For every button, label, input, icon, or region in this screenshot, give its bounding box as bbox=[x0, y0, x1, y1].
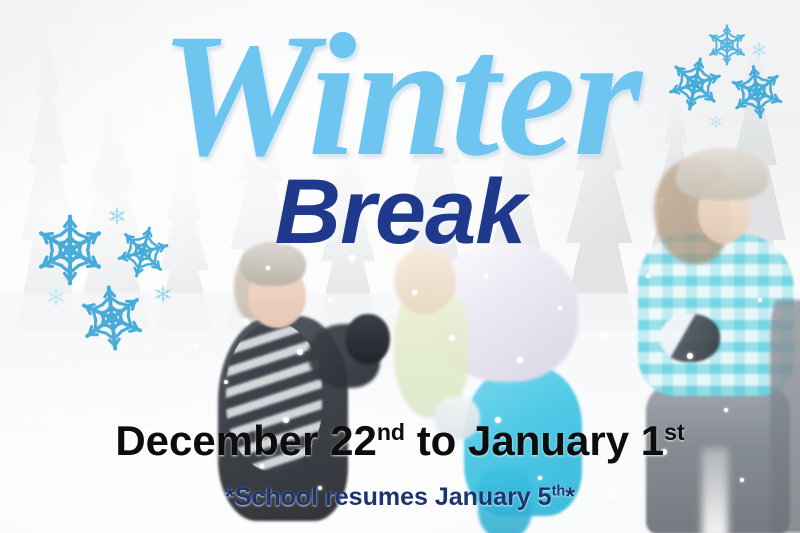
snowflake-left-3-icon bbox=[74, 280, 151, 357]
date-end-day: 1 bbox=[641, 417, 664, 464]
date-range-line: December 22nd to January 1st bbox=[0, 418, 800, 464]
resume-suffix: * bbox=[565, 483, 575, 511]
resume-ordinal: th bbox=[552, 484, 566, 500]
date-end-month: January bbox=[468, 417, 641, 464]
child-left-mitten bbox=[346, 314, 390, 364]
snowflake-left-small-2-icon bbox=[46, 287, 66, 307]
headline-break: Break bbox=[0, 166, 800, 258]
resume-prefix: *School resumes January bbox=[225, 483, 538, 511]
resume-day: 5 bbox=[538, 483, 552, 511]
snowflake-left-small-3-icon bbox=[154, 285, 172, 303]
date-end-ordinal: st bbox=[664, 419, 685, 445]
headline-winter: Winter bbox=[0, 8, 800, 184]
date-start-month: December bbox=[115, 417, 318, 464]
date-start-ordinal: nd bbox=[377, 419, 405, 445]
date-start-day: 22 bbox=[330, 417, 377, 464]
winter-break-poster: Winter Break December 22nd to January 1s… bbox=[0, 0, 800, 533]
school-resume-line: *School resumes January 5th* bbox=[0, 484, 800, 512]
child-right-glove bbox=[660, 314, 720, 362]
date-connector: to bbox=[405, 417, 468, 464]
